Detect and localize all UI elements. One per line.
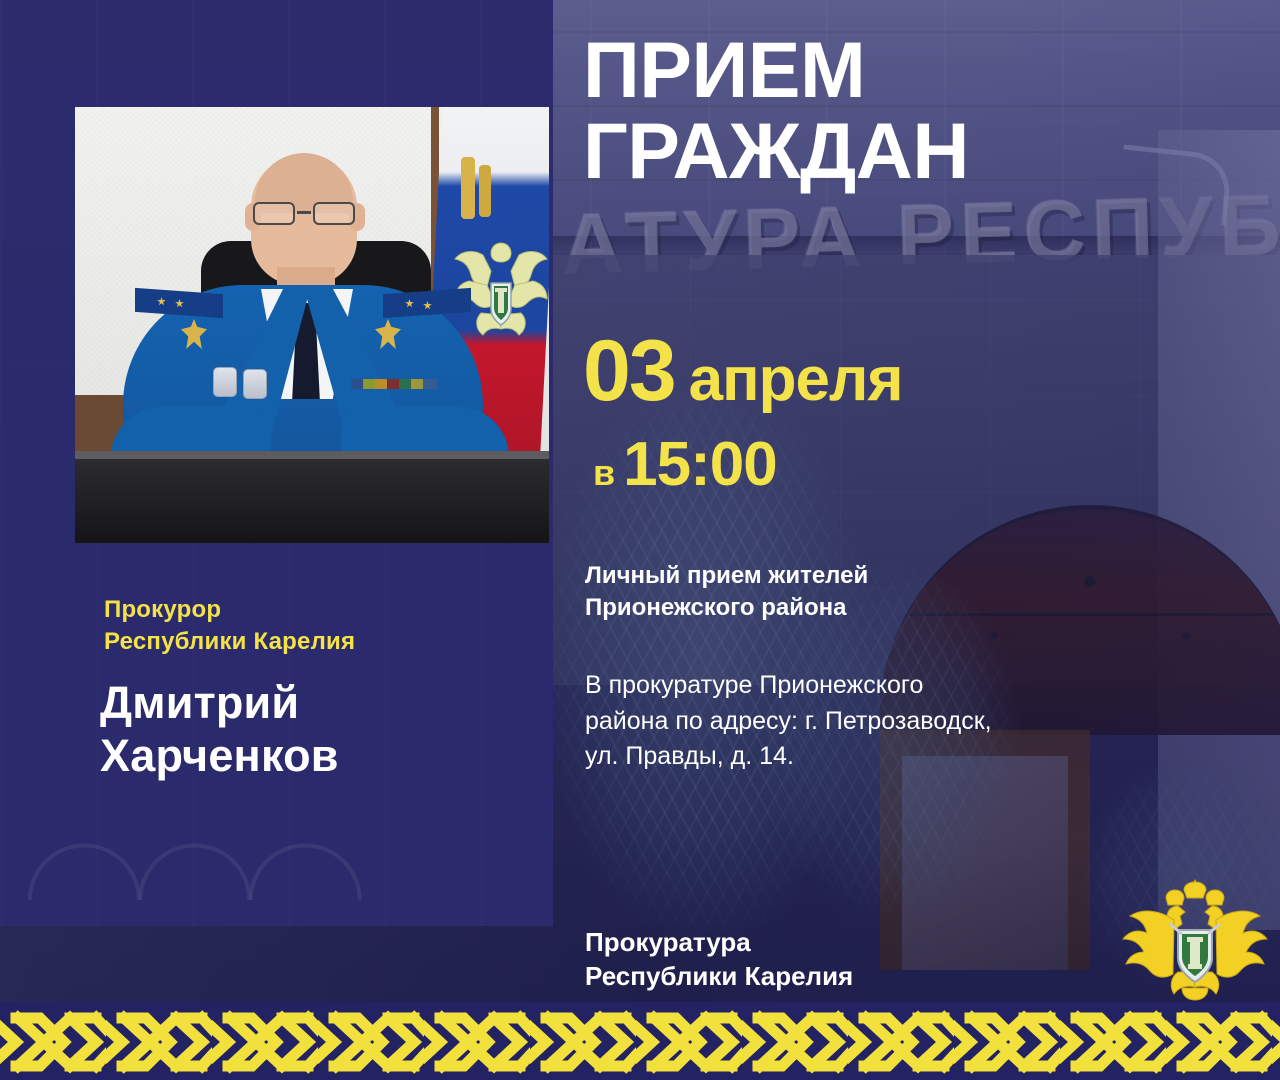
event-date: 03апреля — [583, 328, 1223, 414]
event-address-line1: В прокуратуре Прионежского — [585, 668, 1145, 704]
prosecutor-last-name: Харченков — [100, 729, 540, 782]
page-title-line1: ПРИЕМ — [583, 25, 865, 114]
prosecutor-role-line2: Республики Карелия — [104, 626, 534, 658]
double-headed-eagle-emblem-icon — [1122, 876, 1268, 1002]
poster-root: АТУРА РЕСПУБЛИКИ — [0, 0, 1280, 1080]
karelian-ornament-border — [0, 1002, 1280, 1080]
prosecutor-role: Прокурор Республики Карелия — [104, 594, 534, 657]
event-headline-line2: Прионежского района — [585, 592, 1105, 624]
prosecutor-portrait-photo — [75, 107, 549, 543]
event-address-line2: района по адресу: г. Петрозаводск, — [585, 704, 1145, 740]
event-day: 03 — [583, 323, 675, 419]
prosecutor-role-line1: Прокурор — [104, 594, 534, 626]
prosecutor-first-name: Дмитрий — [100, 676, 540, 729]
event-headline-line1: Личный прием жителей — [585, 560, 1105, 592]
page-title: ПРИЕМ ГРАЖДАН — [583, 30, 1280, 191]
prosecutor-name: Дмитрий Харченков — [100, 676, 540, 782]
event-month: апреля — [689, 345, 903, 414]
eyeglasses-icon — [251, 202, 357, 226]
organization-footer: Прокуратура Республики Карелия — [585, 925, 1055, 994]
event-address-line3: ул. Правды, д. 14. — [585, 739, 1145, 775]
organization-line2: Республики Карелия — [585, 959, 1055, 993]
event-headline: Личный прием жителей Прионежского района — [585, 560, 1105, 624]
event-address: В прокуратуре Прионежского района по адр… — [585, 668, 1145, 775]
page-title-line2: ГРАЖДАН — [583, 111, 1280, 192]
event-time-value: 15:00 — [623, 430, 777, 499]
organization-line1: Прокуратура — [585, 925, 1055, 959]
event-time: в15:00 — [593, 434, 1113, 496]
building-pilaster — [1158, 130, 1280, 930]
event-time-preposition: в — [593, 452, 615, 493]
